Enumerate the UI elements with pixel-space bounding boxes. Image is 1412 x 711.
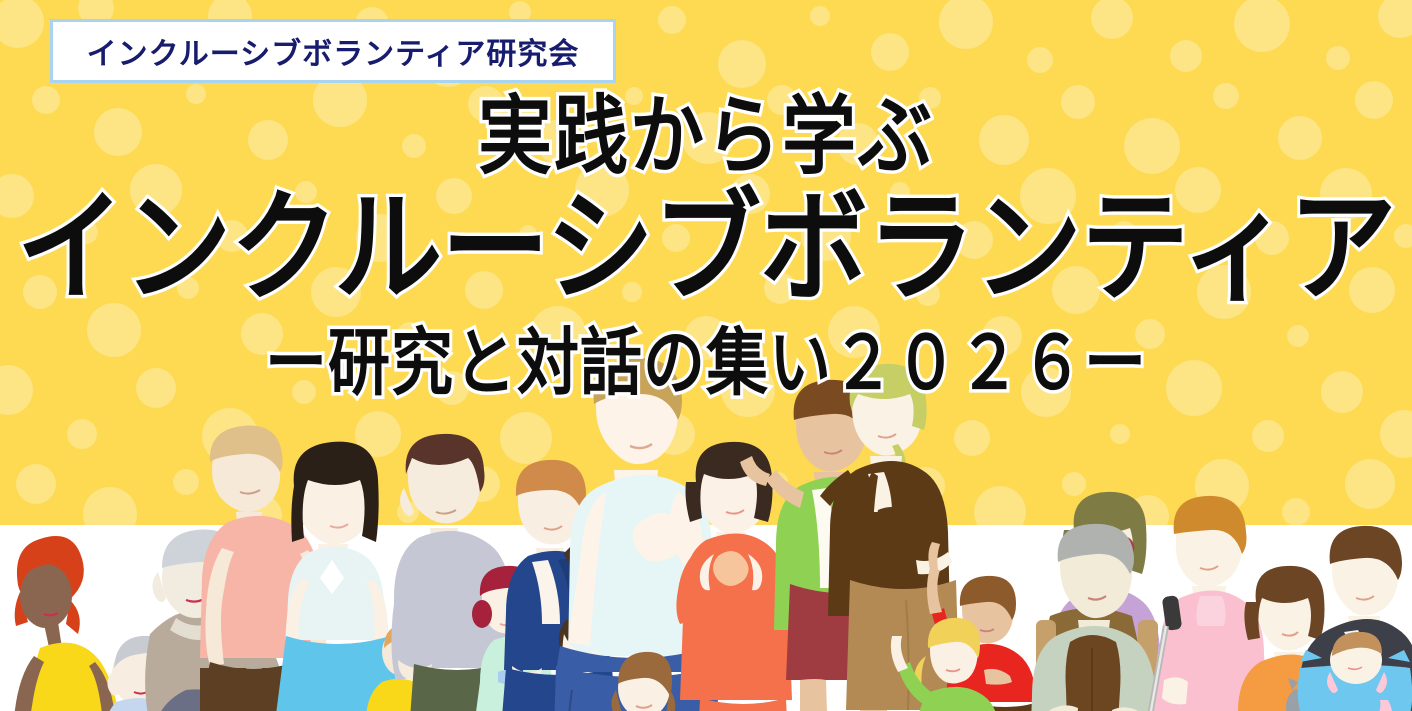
figure-woman-yellow-dress bbox=[12, 536, 118, 711]
organization-badge-label: インクルーシブボランティア研究会 bbox=[87, 29, 580, 73]
organization-badge: インクルーシブボランティア研究会 bbox=[50, 19, 616, 83]
poster-root: インクルーシブボランティア研究会 実践から学ぶ インクルーシブボランティア ー研… bbox=[0, 0, 1412, 711]
people-illustration bbox=[0, 0, 1412, 711]
people-illustration-svg bbox=[0, 0, 1412, 711]
